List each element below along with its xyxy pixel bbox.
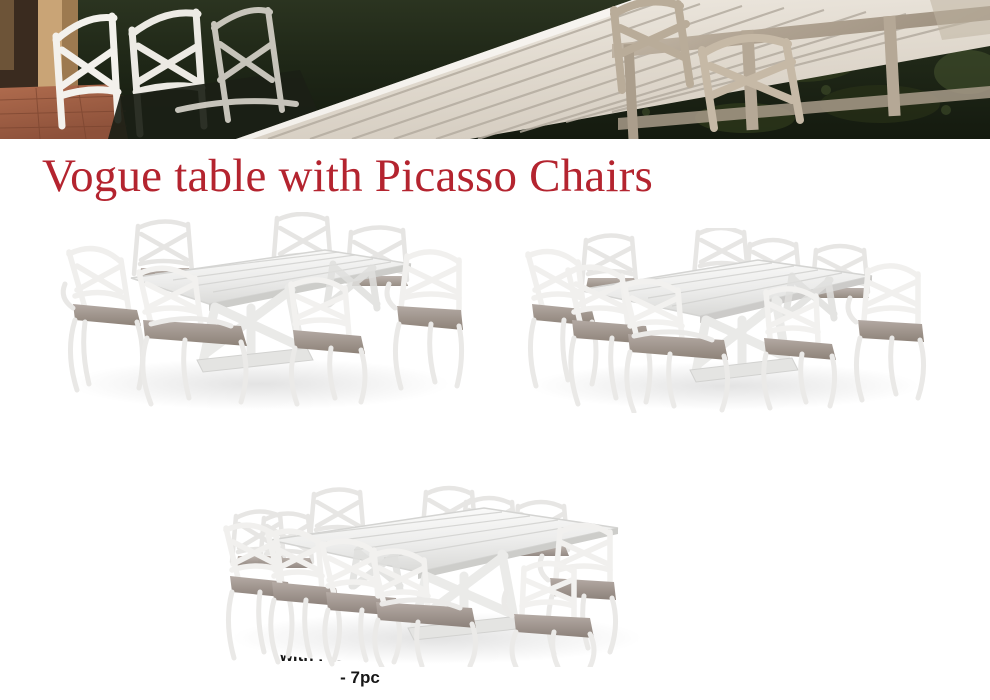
vogue-220x100-dining-set-photo — [520, 228, 930, 413]
caption-line-3: - 7pc — [155, 667, 565, 689]
page-title: Vogue table with Picasso Chairs — [42, 153, 653, 200]
catalogue-page: Vogue table with Picasso Chairs — [0, 0, 990, 700]
vogue-260x110-dining-set-photo — [222, 472, 652, 667]
product-set-3: Vogue 260 x 110 table with Picasso Chair… — [222, 472, 652, 667]
product-set-2: Vogue 220 x 100 table with Picasso Chair… — [520, 228, 920, 410]
vogue-165x90-dining-set-photo — [55, 212, 465, 412]
outdoor-patio-photo — [0, 0, 990, 139]
product-set-1: Vogue 165 x 90 table with Picasso Chairs… — [55, 212, 455, 412]
